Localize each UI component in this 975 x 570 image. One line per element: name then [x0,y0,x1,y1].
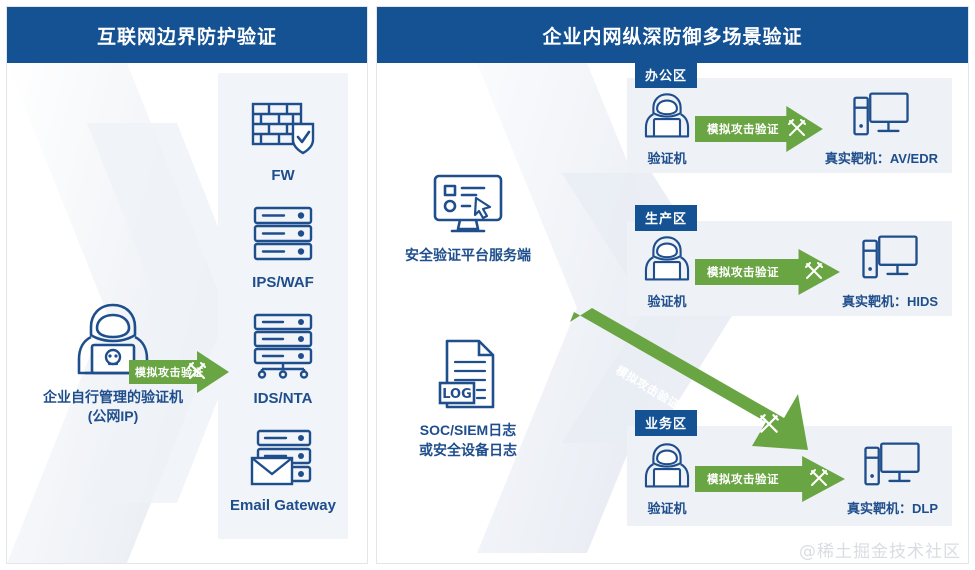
simulated-attack-arrow: 模拟攻击验证 [695,106,823,152]
zone-source-node: 验证机 [641,91,693,167]
device-ids-nta: IDS/NTA [252,313,314,407]
desktop-pc-icon [852,91,910,146]
log-document-icon: LOG [437,338,499,415]
device-label: IDS/NTA [254,390,313,407]
zone-target-label: 真实靶机：HIDS [842,291,938,310]
attacker-label-line2: (公网IP) [43,407,183,426]
crossed-swords-icon [187,361,207,386]
arrow-label: 模拟攻击验证 [707,121,779,137]
server-rack-icon [252,205,314,268]
crossed-swords-icon [758,413,780,440]
device-ips-waf: IPS/WAF [252,205,314,291]
device-fw: FW [249,98,317,184]
log-badge-text: LOG [442,387,472,402]
soc-siem-log-label: SOC/SIEM日志 或安全设备日志 [419,421,517,460]
left-panel-body: FW [7,63,367,563]
platform-server-label: 安全验证平台服务端 [405,246,531,266]
watermark: @稀土掘金技术社区 [799,537,961,562]
zone-target-node: 真实靶机：HIDS [842,234,938,310]
device-label: Email Gateway [230,497,336,514]
zone-source-node: 验证机 [641,234,693,310]
monitor-dashboard-icon [432,173,504,240]
zone-source-label: 验证机 [647,498,686,517]
zone-target-label: 真实靶机：AV/EDR [825,148,938,167]
device-label: FW [271,167,294,184]
device-label: IPS/WAF [252,274,314,291]
left-panel-title: 互联网边界防护验证 [7,7,367,63]
hacker-icon [641,234,693,289]
right-panel-body: 安全验证平台服务端 [377,63,968,563]
crossed-swords-icon [787,118,807,143]
zone-source-label: 验证机 [647,291,686,310]
desktop-pc-icon [863,441,921,496]
diagram-board: 互联网边界防护验证 [0,0,975,570]
zone-target-node: 真实靶机：DLP [847,441,938,517]
arrow-label: 模拟攻击验证 [707,471,779,487]
arrow-label: 模拟攻击验证 [707,264,779,280]
zone-source-label: 验证机 [647,148,686,167]
desktop-pc-icon [861,234,919,289]
security-device-column: FW [218,73,348,539]
left-panel: 互联网边界防护验证 [6,6,368,564]
crossed-swords-icon [809,468,829,493]
simulated-attack-arrow: 模拟攻击验证 [129,351,229,393]
platform-server-node: 安全验证平台服务端 [393,173,543,266]
right-panel-title: 企业内网纵深防御多场景验证 [377,7,968,63]
email-gateway-icon [250,428,316,491]
hacker-icon [641,91,693,146]
device-email-gateway: Email Gateway [230,428,336,514]
zone-target-node: 真实靶机：AV/EDR [825,91,938,167]
firewall-shield-icon [249,98,317,161]
zone-target-label: 真实靶机：DLP [847,498,938,517]
simulated-attack-arrow: 模拟攻击验证 [695,249,840,295]
crossed-swords-icon [804,261,824,286]
soc-siem-log-node: LOG SOC/SIEM日志 或安全设备日志 [393,338,543,460]
zone-production: 生产区 [627,221,952,316]
right-panel: 企业内网纵深防御多场景验证 [376,6,969,564]
simulated-attack-arrow: 模拟攻击验证 [695,456,845,502]
soc-siem-log-line1: SOC/SIEM日志 [419,421,517,441]
soc-siem-log-line2: 或安全设备日志 [419,441,517,461]
attacker-label: 企业自行管理的验证机 (公网IP) [43,388,183,426]
diagonal-simulated-attack-arrow [562,308,832,453]
zone-office: 办公区 [627,78,952,173]
ids-server-icon [252,313,314,384]
